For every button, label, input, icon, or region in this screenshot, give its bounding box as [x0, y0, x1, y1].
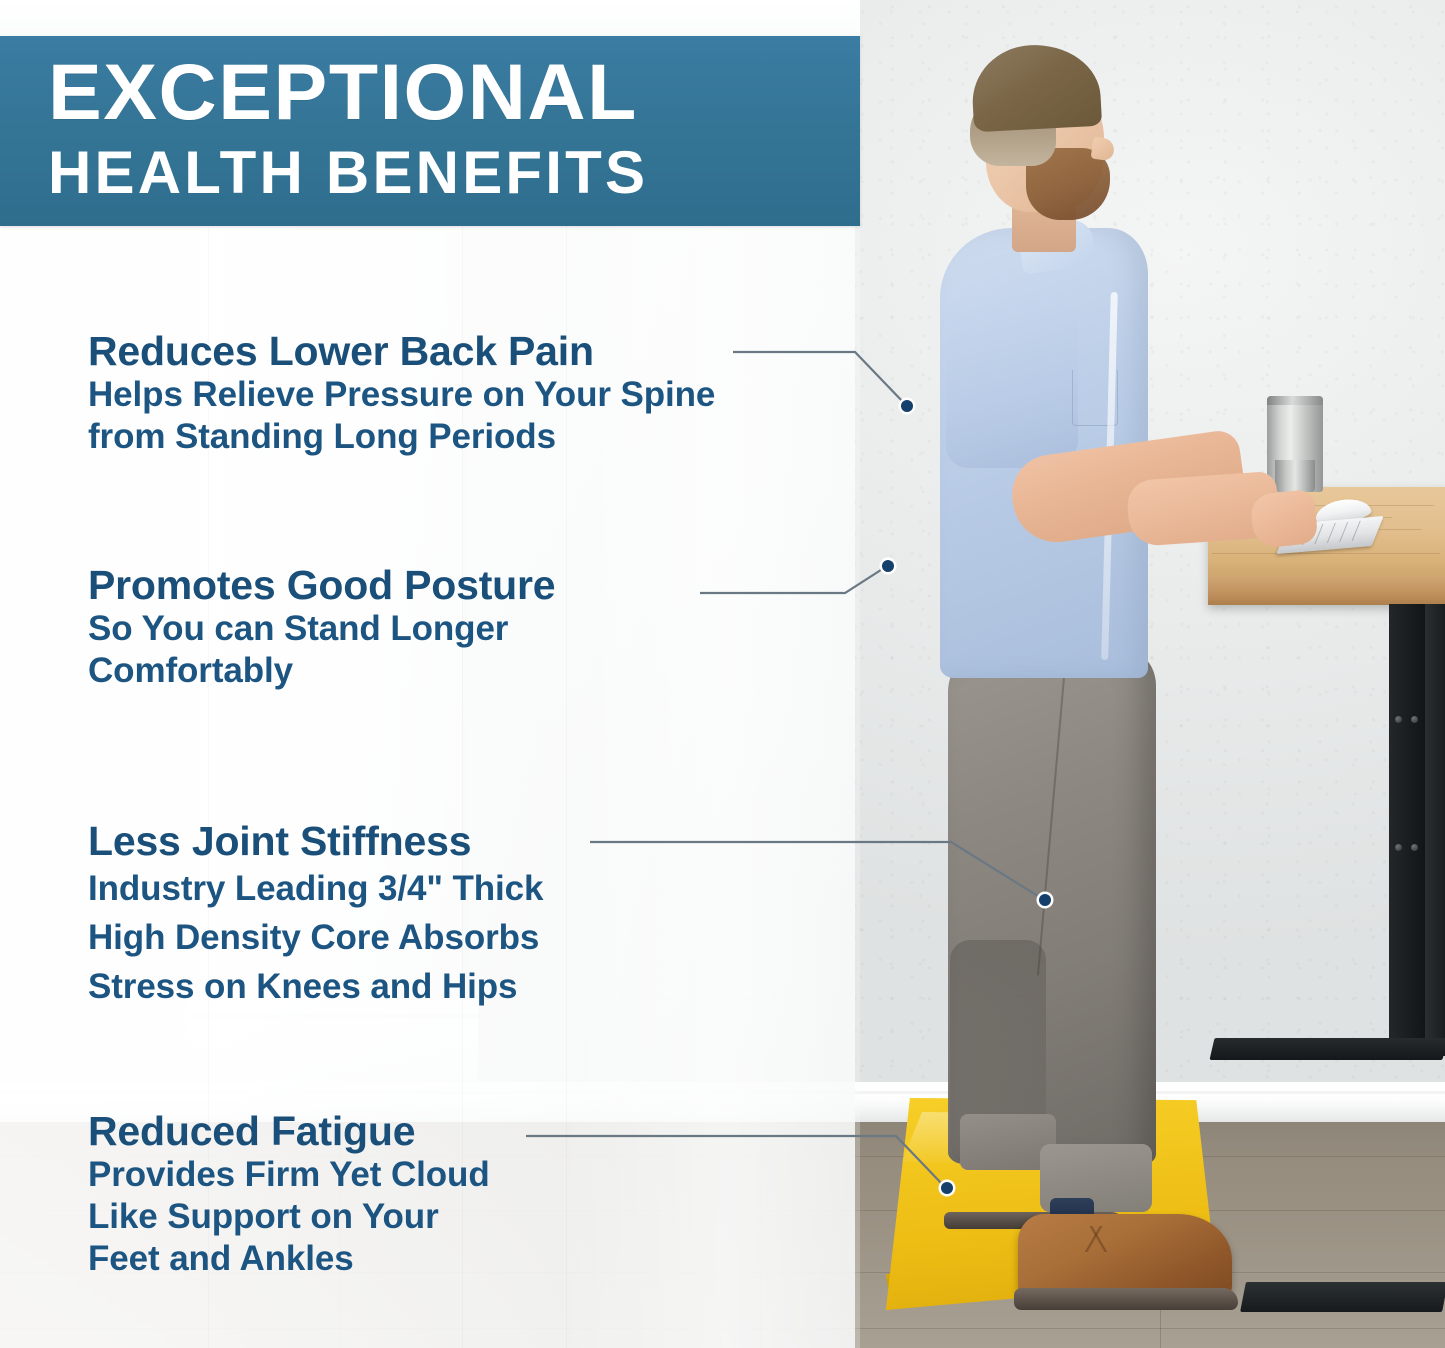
- shoe-front-sole: [1014, 1288, 1238, 1310]
- benefit-line: Like Support on Your: [88, 1196, 490, 1238]
- benefit-title: Less Joint Stiffness: [88, 818, 543, 864]
- desk-leg-column: [1389, 604, 1425, 1056]
- product-benefits-infographic: EXCEPTIONAL HEALTH BENEFITS Reduces Lowe…: [0, 0, 1445, 1348]
- hand: [1249, 489, 1318, 549]
- person: [900, 40, 1320, 1300]
- benefit-title: Reduces Lower Back Pain: [88, 328, 715, 374]
- benefit-line: High Density Core Absorbs: [88, 913, 543, 962]
- benefit-title: Promotes Good Posture: [88, 562, 555, 608]
- shoe-laces: [1068, 1226, 1124, 1252]
- benefit-line: from Standing Long Periods: [88, 416, 715, 458]
- benefit-line: Industry Leading 3/4" Thick: [88, 864, 543, 913]
- top-white-strip: [0, 0, 860, 36]
- shirt-sleeve: [946, 290, 1078, 468]
- benefit-line: Helps Relieve Pressure on Your Spine: [88, 374, 715, 416]
- desk-leg-column-side: [1425, 604, 1445, 1056]
- header-title-line2: HEALTH BENEFITS: [48, 142, 648, 204]
- hair: [970, 42, 1102, 133]
- benefit-line: Comfortably: [88, 650, 555, 692]
- header-banner: EXCEPTIONAL HEALTH BENEFITS: [0, 36, 860, 226]
- benefit-line: Stress on Knees and Hips: [88, 962, 543, 1011]
- benefit-line: Provides Firm Yet Cloud: [88, 1154, 490, 1196]
- benefit-block-less-joint-stiffness: Less Joint Stiffness Industry Leading 3/…: [88, 818, 543, 1011]
- benefit-title: Reduced Fatigue: [88, 1108, 490, 1154]
- benefit-block-reduces-lower-back-pain: Reduces Lower Back Pain Helps Relieve Pr…: [88, 328, 715, 458]
- header-title-line1: EXCEPTIONAL: [48, 52, 638, 132]
- nose: [1091, 137, 1116, 162]
- benefit-block-promotes-good-posture: Promotes Good Posture So You can Stand L…: [88, 562, 555, 692]
- benefit-line: So You can Stand Longer: [88, 608, 555, 650]
- benefit-block-reduced-fatigue: Reduced Fatigue Provides Firm Yet Cloud …: [88, 1108, 490, 1280]
- benefit-line: Feet and Ankles: [88, 1238, 490, 1280]
